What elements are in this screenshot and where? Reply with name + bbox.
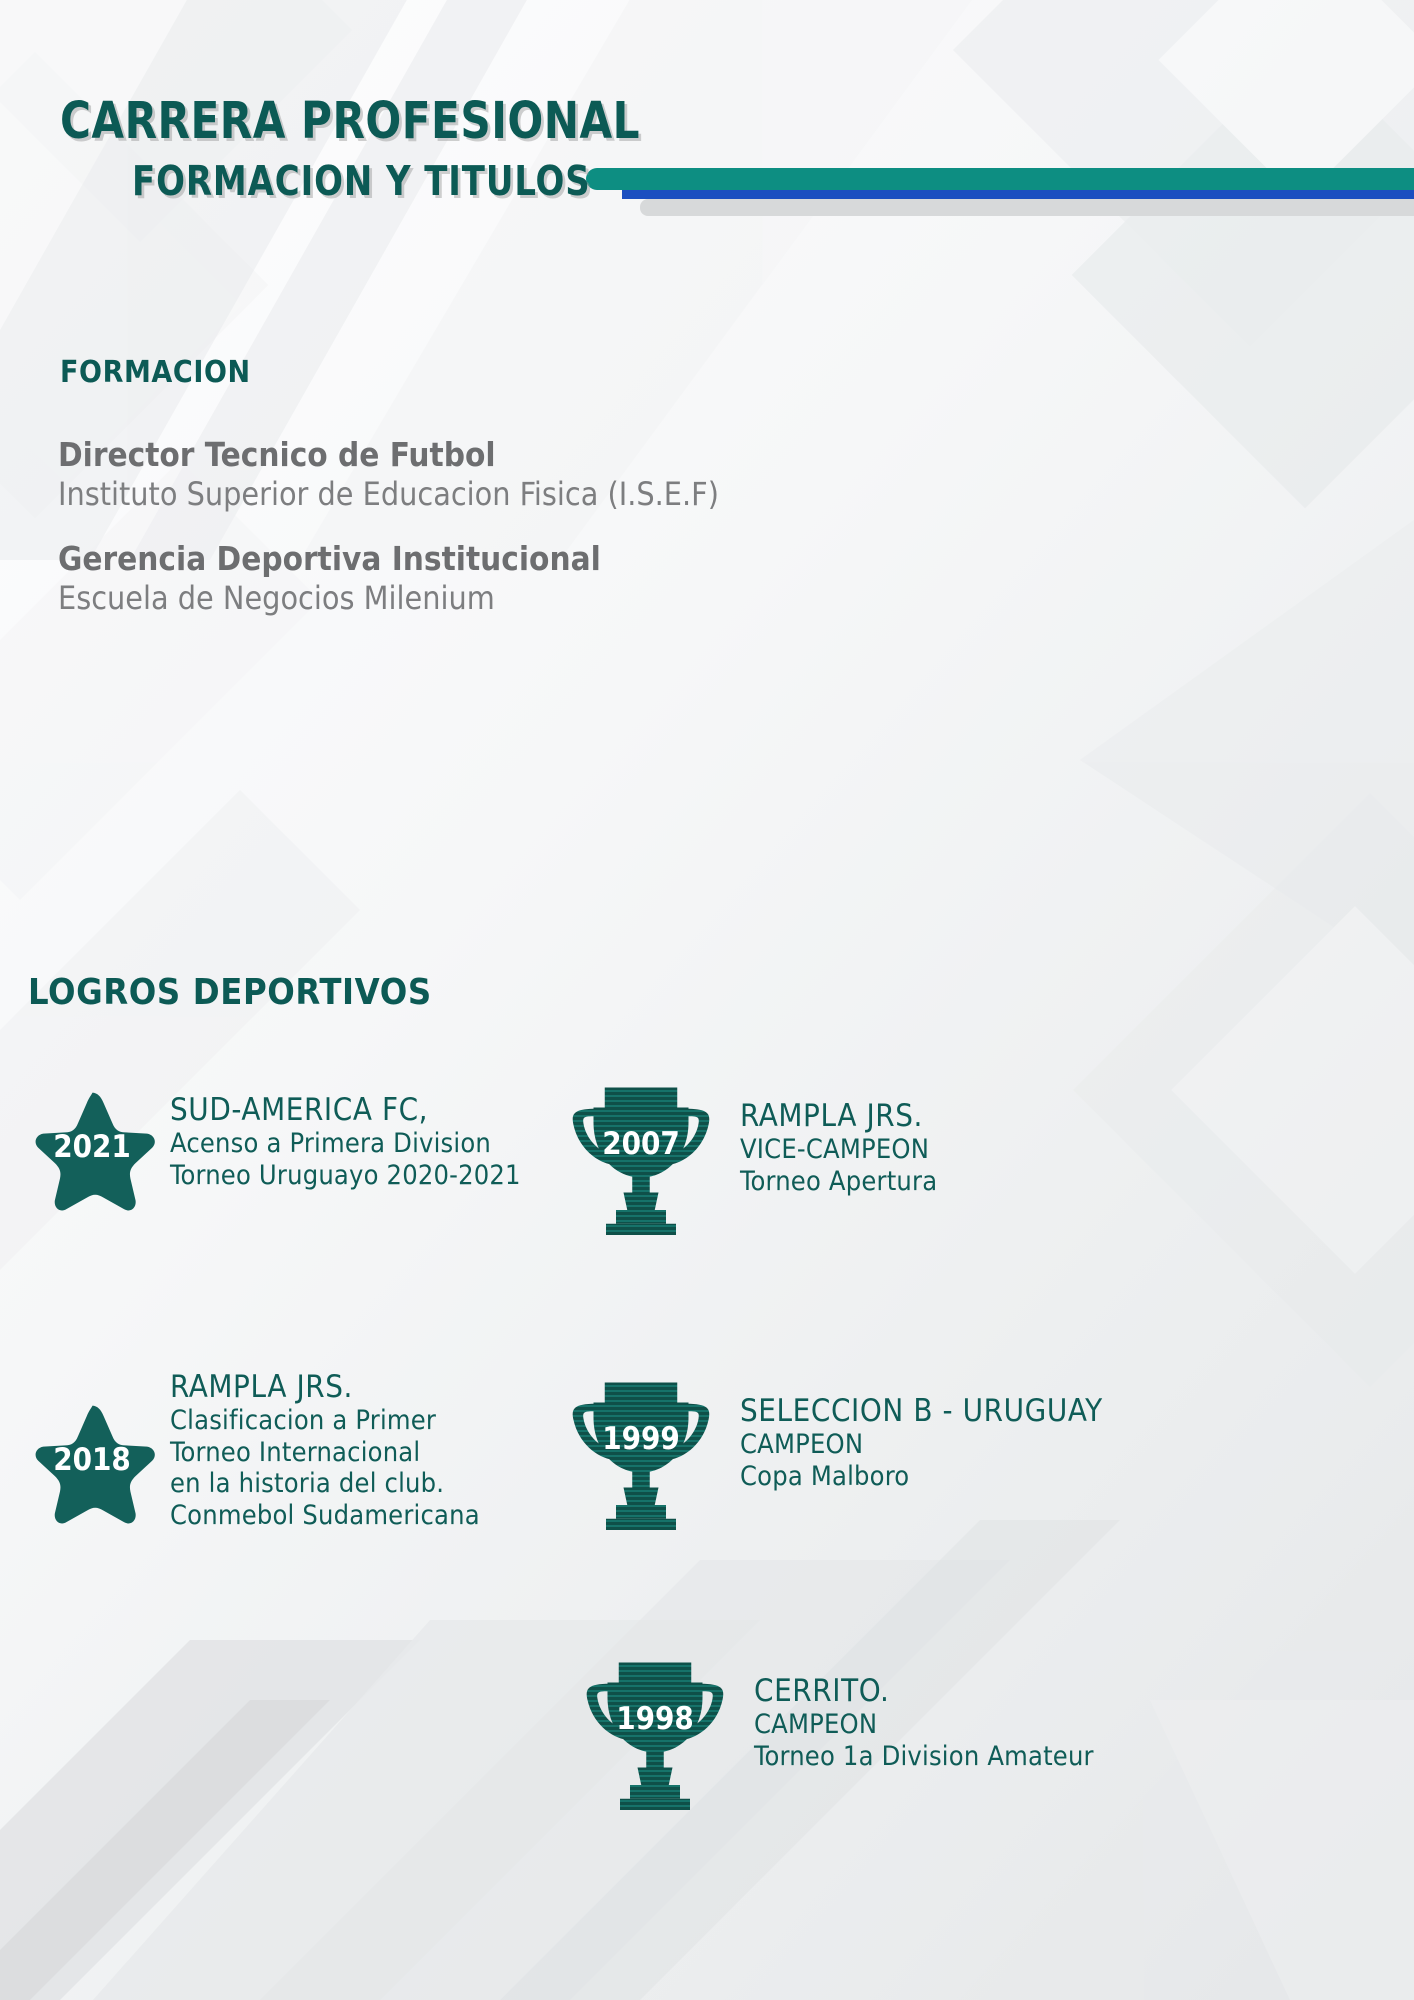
achievement-detail: Torneo 1a Division Amateur (754, 1741, 1094, 1773)
badge-year: 2018 (28, 1442, 156, 1478)
trophy-badge-icon (566, 1085, 716, 1240)
achievement-text: CERRITO. CAMPEON Torneo 1a Division Amat… (754, 1674, 1094, 1772)
logros-section-title: LOGROS DEPORTIVOS (28, 972, 432, 1013)
trophy-badge-icon (580, 1660, 730, 1815)
achievement-text: RAMPLA JRS. Clasificacion a Primer Torne… (170, 1370, 480, 1532)
badge-year: 1999 (566, 1421, 716, 1457)
achievement-2018: 2018 RAMPLA JRS. Clasificacion a Primer … (28, 1350, 480, 1532)
trophy-badge: 2007 (566, 1085, 716, 1244)
header-rule-teal (586, 168, 1414, 190)
achievement-detail: Clasificacion a Primer (170, 1405, 480, 1437)
achievement-detail: Conmebol Sudamericana (170, 1500, 480, 1532)
achievement-title: SUD-AMERICA FC, (170, 1093, 521, 1128)
formacion-list: Director Tecnico de Futbol Instituto Sup… (58, 435, 958, 643)
achievement-detail: VICE-CAMPEON (740, 1134, 937, 1166)
formacion-institution: Escuela de Negocios Milenium (58, 579, 958, 619)
header-rule-blue (622, 190, 1414, 199)
formacion-degree: Director Tecnico de Futbol (58, 435, 958, 475)
achievement-title: CERRITO. (754, 1674, 1094, 1709)
achievement-detail: en la historia del club. (170, 1468, 480, 1500)
badge-year: 2007 (566, 1126, 716, 1162)
page-title: CARRERA PROFESIONAL FORMACION Y TITULOS (60, 96, 690, 202)
achievement-title: SELECCION B - URUGUAY (740, 1394, 1103, 1429)
achievement-text: RAMPLA JRS. VICE-CAMPEON Torneo Apertura (740, 1099, 937, 1197)
trophy-badge-icon (566, 1380, 716, 1535)
achievement-title: RAMPLA JRS. (170, 1370, 480, 1405)
achievement-detail: Torneo Internacional (170, 1437, 480, 1469)
star-badge: 2021 (28, 1085, 156, 1217)
achievement-detail: Torneo Uruguayo 2020-2021 (170, 1160, 521, 1192)
achievement-detail: Acenso a Primera Division (170, 1128, 521, 1160)
formacion-section-title: FORMACION (60, 355, 251, 390)
header-rule-grey (640, 199, 1414, 216)
achievement-title: RAMPLA JRS. (740, 1099, 937, 1134)
achievement-2021: 2021 SUD-AMERICA FC, Acenso a Primera Di… (28, 1085, 521, 1217)
achievement-detail: Copa Malboro (740, 1461, 1103, 1493)
star-badge: 2018 (28, 1398, 156, 1530)
page-title-line1: CARRERA PROFESIONAL (60, 96, 640, 147)
page-header: CARRERA PROFESIONAL FORMACION Y TITULOS (0, 0, 1414, 260)
achievement-detail: CAMPEON (740, 1429, 1103, 1461)
page-title-line2: FORMACION Y TITULOS (132, 161, 646, 202)
formacion-item: Director Tecnico de Futbol Instituto Sup… (58, 435, 958, 515)
badge-year: 2021 (28, 1129, 156, 1165)
achievement-2007: 2007 RAMPLA JRS. VICE-CAMPEON Torneo Ape… (566, 1085, 937, 1244)
achievement-1999: 1999 SELECCION B - URUGUAY CAMPEON Copa … (566, 1380, 1103, 1539)
badge-year: 1998 (580, 1701, 730, 1737)
formacion-institution: Instituto Superior de Educacion Fisica (… (58, 475, 958, 515)
achievement-1998: 1998 CERRITO. CAMPEON Torneo 1a Division… (580, 1660, 1094, 1819)
formacion-item: Gerencia Deportiva Institucional Escuela… (58, 539, 958, 619)
trophy-badge: 1999 (566, 1380, 716, 1539)
achievement-text: SELECCION B - URUGUAY CAMPEON Copa Malbo… (740, 1394, 1103, 1492)
trophy-badge: 1998 (580, 1660, 730, 1819)
achievement-detail: Torneo Apertura (740, 1166, 937, 1198)
achievement-detail: CAMPEON (754, 1709, 1094, 1741)
formacion-degree: Gerencia Deportiva Institucional (58, 539, 958, 579)
achievement-text: SUD-AMERICA FC, Acenso a Primera Divisio… (170, 1093, 521, 1191)
